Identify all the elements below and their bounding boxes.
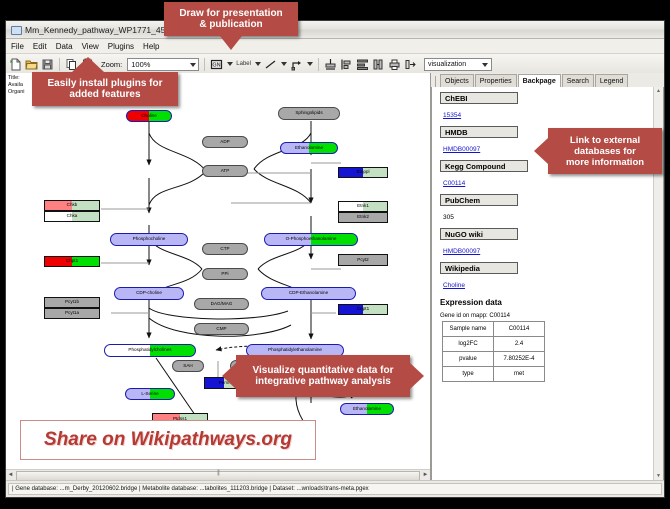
- gene-id-on-mapp-label: Gene id on mapp: C00114: [440, 313, 654, 319]
- db-link-chebi[interactable]: 15354: [443, 112, 461, 119]
- gene-node-pcyt1b[interactable]: Pcyt1b: [44, 297, 100, 308]
- svg-text:GN: GN: [213, 62, 221, 68]
- table-row: log2FC 2.4: [443, 337, 545, 352]
- datanode-icon[interactable]: GN: [210, 58, 223, 71]
- db-header-pubchem: PubChem: [440, 194, 518, 206]
- callout-links-line1: Link to external: [570, 135, 640, 146]
- expression-data-heading: Expression data: [440, 298, 654, 307]
- side-panel-tabs: Objects Properties Backpage Search Legen…: [431, 73, 664, 88]
- metabolite-node-cmp[interactable]: CMP: [194, 323, 249, 335]
- meta-organism-label: Organi: [8, 89, 25, 96]
- pathvisio-icon: [10, 24, 21, 35]
- scroll-up-icon[interactable]: ▲: [654, 87, 663, 95]
- metabolite-node-ethanolamine[interactable]: Ethanolamine: [280, 142, 338, 154]
- table-row: pvalue 7.80252E-4: [443, 352, 545, 367]
- callout-links-arrow: [534, 138, 548, 164]
- callout-draw: Draw for presentation & publication: [164, 2, 298, 36]
- label-dropdown-icon[interactable]: [255, 62, 261, 66]
- scroll-left-icon[interactable]: ◄: [6, 471, 15, 479]
- title-bar: Mm_Kennedy_pathway_WP1771_45176.gpml: [6, 21, 664, 39]
- metabolite-node-ppi[interactable]: PPi: [202, 268, 248, 280]
- expr-key-pvalue: pvalue: [443, 352, 494, 367]
- distribute-vertical-icon[interactable]: [356, 58, 369, 71]
- tab-search[interactable]: Search: [562, 74, 594, 87]
- datanode-dropdown-icon[interactable]: [227, 62, 233, 66]
- line-tool-icon[interactable]: [264, 58, 277, 71]
- metabolite-node-dagmag[interactable]: DAG/MAG: [194, 298, 249, 310]
- callout-draw-line2: & publication: [199, 19, 262, 30]
- expr-value-pvalue: 7.80252E-4: [494, 352, 545, 367]
- callout-visualize-line1: Visualize quantitative data for: [253, 365, 394, 376]
- gene-node-etnppl[interactable]: Etnppl: [338, 167, 388, 178]
- visualization-combobox[interactable]: visualization: [424, 58, 492, 71]
- expr-key-sample-name: Sample name: [443, 322, 494, 337]
- table-row: Sample name C00114: [443, 322, 545, 337]
- zoom-label: Zoom:: [101, 60, 122, 69]
- db-header-wikipedia: Wikipedia: [440, 262, 518, 274]
- metabolite-node-o-phosphoethanolamine[interactable]: O-Phosphoethanolamine: [264, 233, 358, 246]
- pathway-canvas[interactable]: Title: Availa Organi: [6, 73, 430, 470]
- chevron-down-icon-2: [482, 63, 488, 67]
- print-icon[interactable]: [388, 58, 401, 71]
- align-top-icon[interactable]: [324, 58, 337, 71]
- db-header-chebi: ChEBI: [440, 92, 518, 104]
- bring-front-icon[interactable]: [404, 58, 417, 71]
- meta-availability-label: Availa: [8, 82, 25, 89]
- scroll-right-icon[interactable]: ►: [421, 471, 430, 479]
- metabolite-node-sphingolipids[interactable]: Sphingolipids: [278, 107, 340, 120]
- metabolite-node-ctp[interactable]: CTP: [202, 243, 248, 255]
- expr-value-type: met: [494, 367, 545, 382]
- gene-node-chkb[interactable]: Chkb: [44, 200, 100, 211]
- db-link-kegg-compound[interactable]: C00114: [443, 180, 465, 187]
- chevron-down-icon: [190, 63, 196, 67]
- callout-draw-line1: Draw for presentation: [179, 8, 282, 19]
- callout-share: Share on Wikipathways.org: [20, 420, 316, 460]
- db-header-hmdb: HMDB: [440, 126, 518, 138]
- expr-key-type: type: [443, 367, 494, 382]
- align-left-icon[interactable]: [340, 58, 353, 71]
- interaction-dropdown-icon[interactable]: [307, 62, 313, 66]
- same-width-icon[interactable]: [372, 58, 385, 71]
- callout-plugins-line2: added features: [69, 89, 140, 100]
- gene-node-chka[interactable]: Chka: [44, 211, 100, 222]
- callout-visualize-arrow-right: [410, 363, 424, 389]
- expr-key-log2fc: log2FC: [443, 337, 494, 352]
- tab-backpage[interactable]: Backpage: [518, 74, 561, 88]
- menu-item-file[interactable]: File: [11, 42, 24, 51]
- interaction-tool-icon[interactable]: [290, 58, 303, 71]
- metabolite-node-l-serine-left[interactable]: L-Serine: [125, 388, 175, 400]
- menu-item-help[interactable]: Help: [143, 42, 159, 51]
- menu-item-edit[interactable]: Edit: [33, 42, 47, 51]
- callout-visualize-arrow-left: [222, 363, 236, 389]
- callout-share-text: Share on Wikipathways.org: [44, 429, 292, 451]
- scroll-down-icon[interactable]: ▼: [654, 472, 663, 480]
- zoom-value: 100%: [131, 60, 150, 69]
- save-file-icon[interactable]: [41, 58, 54, 71]
- metabolite-node-choline[interactable]: Choline: [126, 110, 172, 122]
- callout-links-line3: more information: [566, 157, 644, 168]
- callout-plugins: Easily install plugins for added feature…: [32, 72, 178, 106]
- callout-links-line2: databases for: [574, 146, 636, 157]
- callout-links: Link to external databases for more info…: [548, 128, 662, 174]
- metabolite-node-cdp-choline[interactable]: CDP-choline: [114, 287, 184, 300]
- db-link-hmdb[interactable]: HMDB00097: [443, 146, 480, 153]
- metabolite-node-phosphocholine[interactable]: Phosphocholine: [110, 233, 188, 246]
- db-link-wikipedia[interactable]: Choline: [443, 282, 465, 289]
- metabolite-node-cdp-ethanolamine[interactable]: CDP-Ethanolamine: [261, 287, 356, 300]
- gene-node-etnk2[interactable]: Etnk2: [338, 212, 388, 223]
- toolbar-separator-2: [204, 58, 205, 71]
- line-dropdown-icon[interactable]: [281, 62, 287, 66]
- gene-node-etnk1[interactable]: Etnk1: [338, 201, 388, 212]
- table-row: type met: [443, 367, 545, 382]
- callout-plugins-arrow: [72, 57, 104, 72]
- gene-node-chpt1-left[interactable]: Chpt1: [44, 256, 100, 267]
- metabolite-node-phosphatidylcholines[interactable]: Phosphatidylcholines: [104, 344, 196, 357]
- metabolite-node-adp[interactable]: ADP: [202, 136, 248, 148]
- tab-strip-edge: [435, 76, 439, 87]
- tab-objects[interactable]: Objects: [440, 74, 474, 87]
- gene-node-cept1[interactable]: Cept1: [338, 304, 388, 315]
- status-bar: | Gene database: ...m_Derby_20120602.bri…: [6, 480, 664, 497]
- visualization-value: visualization: [428, 61, 466, 68]
- expr-value-sample-name: C00114: [494, 322, 545, 337]
- gene-node-pcyt1a[interactable]: Pcyt1a: [44, 308, 100, 319]
- screenshot-root: Mm_Kennedy_pathway_WP1771_45176.gpml Fil…: [0, 0, 670, 509]
- metabolite-node-ethanolamine-lower[interactable]: Ethanolamine: [340, 403, 394, 415]
- expression-data-table: Sample name C00114 log2FC 2.4 pvalue 7.8…: [442, 321, 545, 382]
- tab-legend[interactable]: Legend: [595, 74, 628, 87]
- toolbar-separator-3: [318, 58, 319, 71]
- pathway-metadata: Title: Availa Organi: [8, 75, 25, 96]
- metabolite-node-atp[interactable]: ATP: [202, 165, 248, 177]
- callout-plugins-line1: Easily install plugins for: [47, 78, 162, 89]
- label-tool-label[interactable]: Label: [236, 61, 251, 67]
- callout-draw-arrow: [220, 36, 242, 50]
- status-text: | Gene database: ...m_Derby_20120602.bri…: [8, 483, 662, 495]
- db-header-kegg-compound: Kegg Compound: [440, 160, 528, 172]
- db-header-nugo-wiki: NuGO wiki: [440, 228, 518, 240]
- meta-title-label: Title:: [8, 75, 25, 82]
- tab-properties[interactable]: Properties: [475, 74, 517, 87]
- callout-visualize: Visualize quantitative data for integrat…: [236, 355, 410, 397]
- gene-node-pcyt2[interactable]: Pcyt2: [338, 254, 388, 266]
- expr-value-log2fc: 2.4: [494, 337, 545, 352]
- new-file-icon[interactable]: [9, 58, 22, 71]
- zoom-combobox[interactable]: 100%: [127, 58, 199, 71]
- menu-item-data[interactable]: Data: [56, 42, 73, 51]
- menu-item-plugins[interactable]: Plugins: [108, 42, 134, 51]
- open-file-icon[interactable]: [25, 58, 38, 71]
- menu-item-view[interactable]: View: [82, 42, 99, 51]
- metabolite-node-sah[interactable]: SAH: [172, 360, 204, 372]
- db-value-pubchem: 305: [443, 214, 454, 221]
- menu-bar: File Edit Data View Plugins Help: [6, 39, 664, 54]
- db-link-nugo-wiki[interactable]: HMDB00097: [443, 248, 480, 255]
- toolbar-separator: [59, 58, 60, 71]
- callout-visualize-line2: integrative pathway analysis: [255, 376, 391, 387]
